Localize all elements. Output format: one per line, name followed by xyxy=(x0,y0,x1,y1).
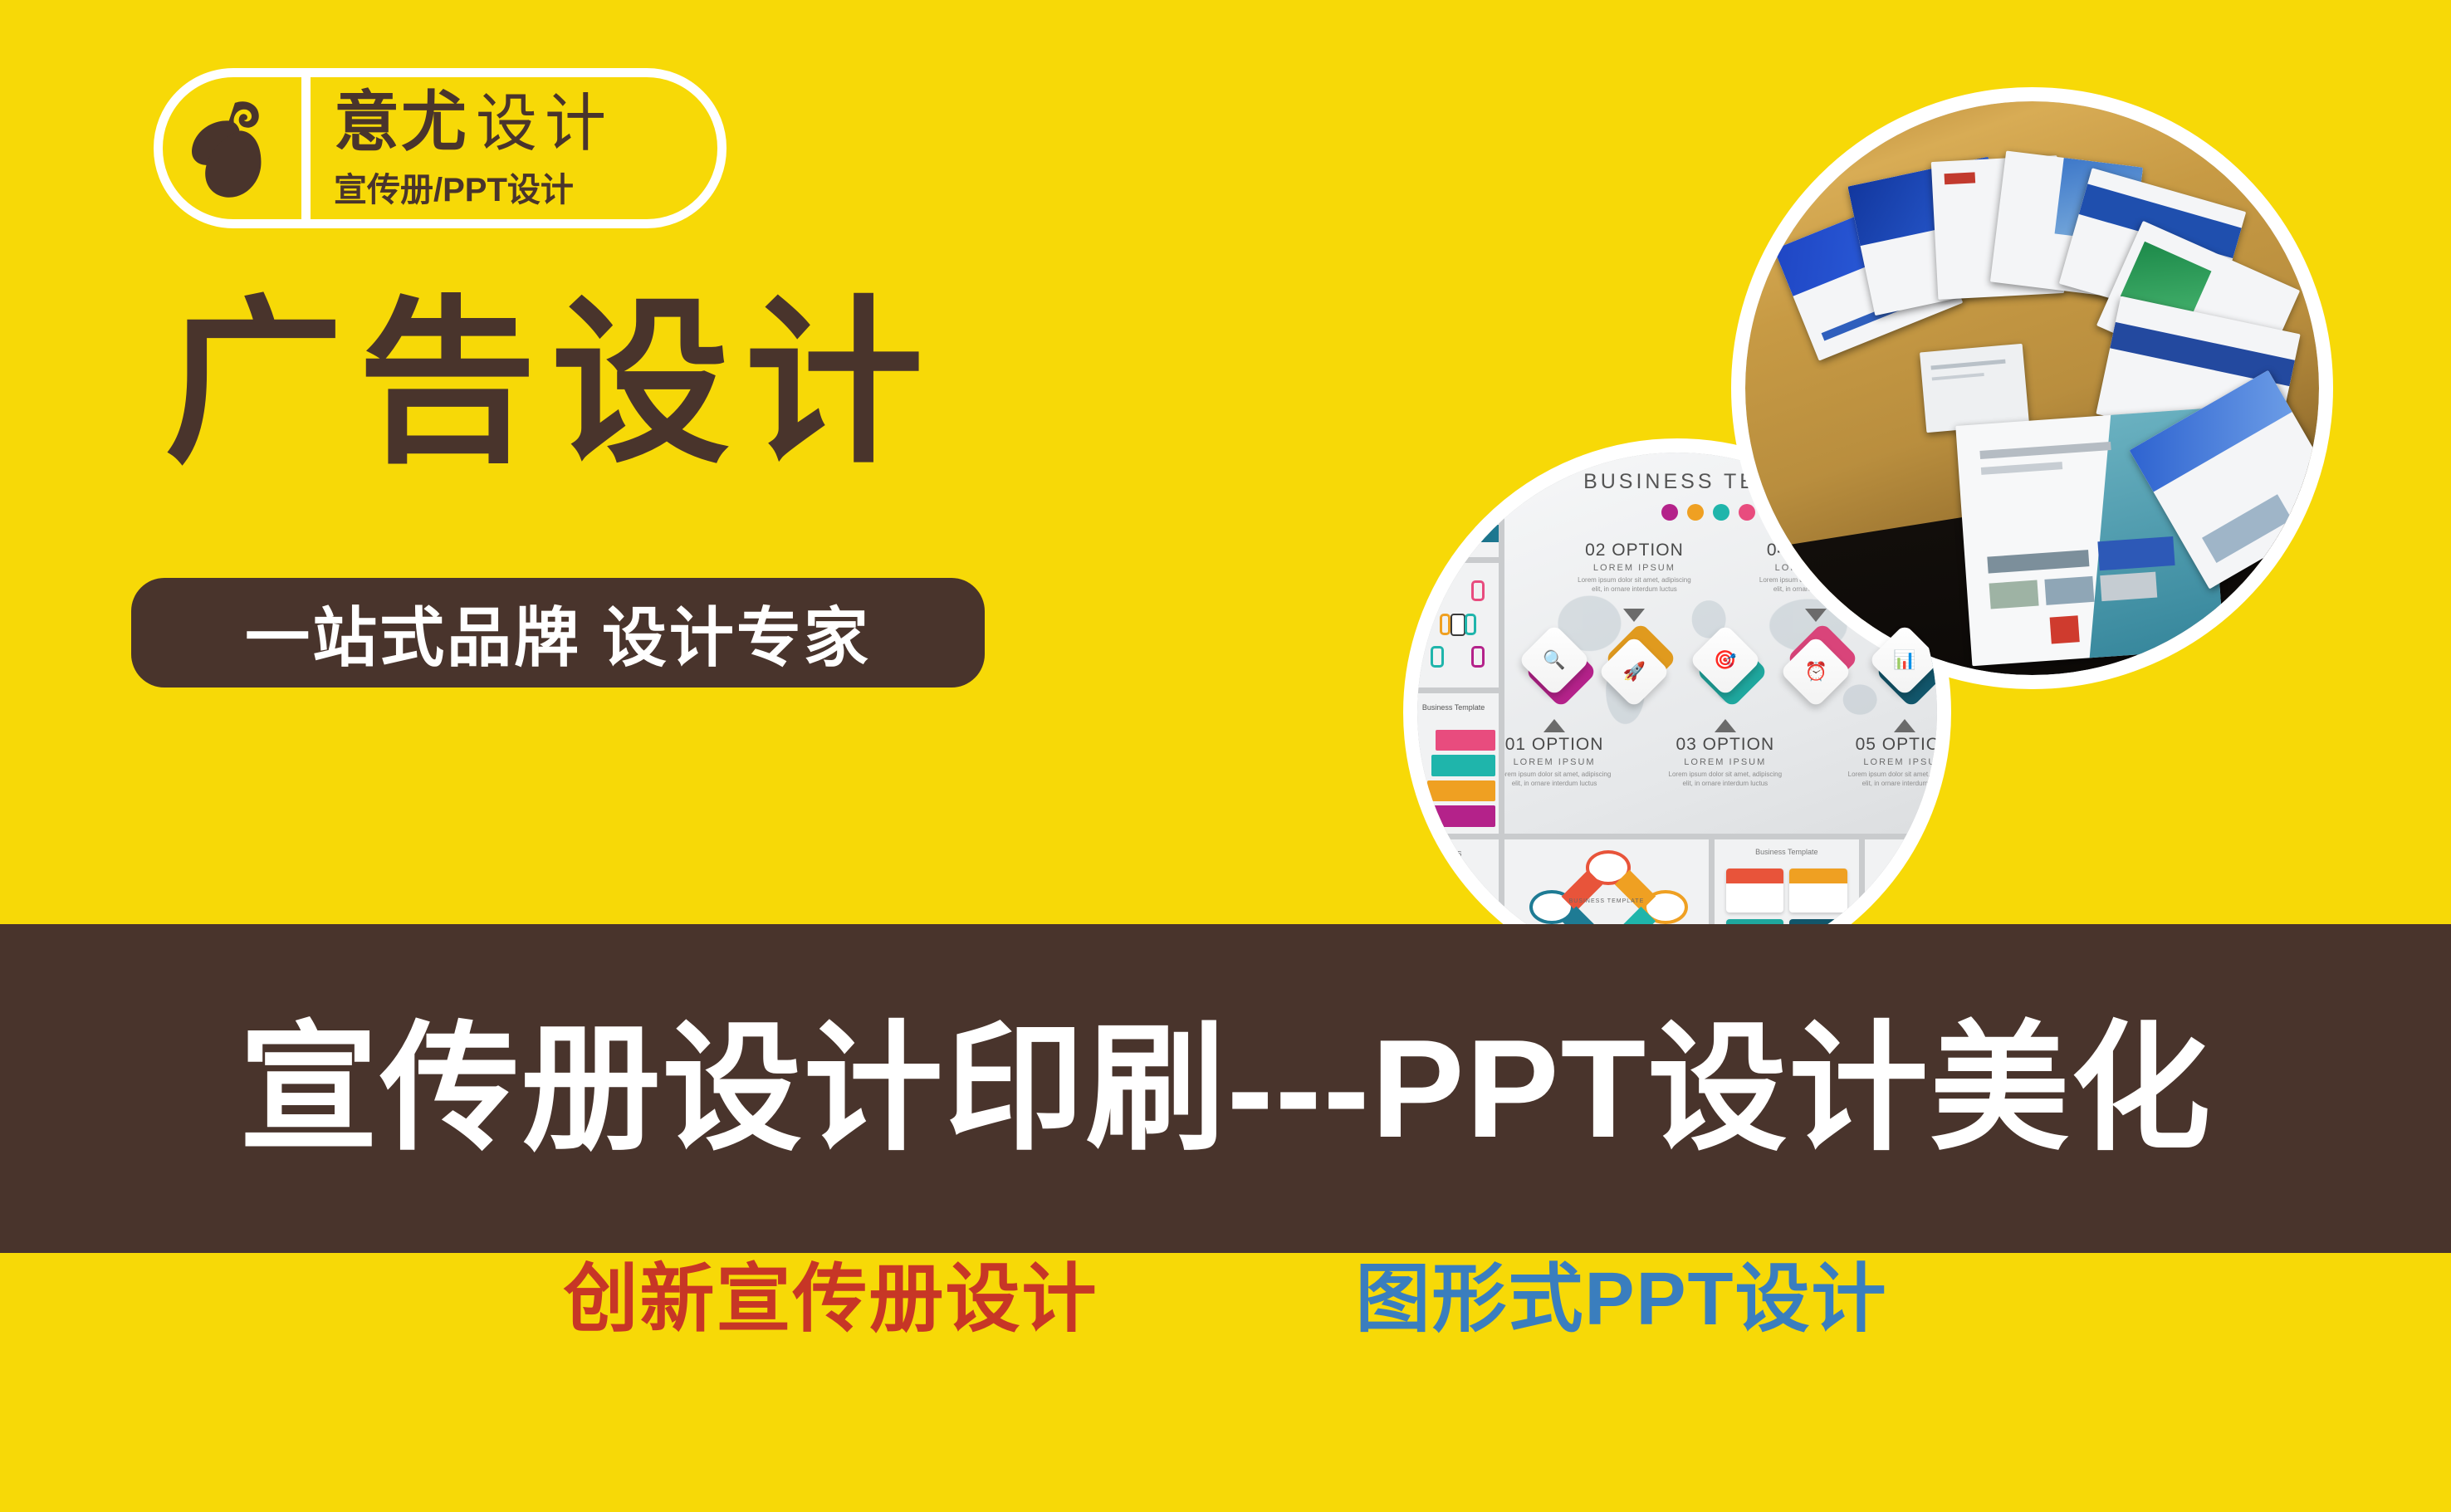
desk-background xyxy=(1745,101,2319,675)
ppt-thumb-cross-matrix xyxy=(1417,563,1499,687)
bottom-taglines: 创新宣传册设计 图形式PPT设计 xyxy=(0,1262,2451,1337)
business-card-holder xyxy=(1920,344,2029,433)
logo-name-thin: 设计 xyxy=(476,92,614,154)
logo-text-cell: 意尤 设计 宣传册/PPT设计 xyxy=(311,77,717,219)
rocket-icon: 🚀 xyxy=(1608,646,1660,697)
tagline-badge: 一站式品牌 设计专家 xyxy=(131,578,985,687)
ppt-thumb-funnel: Business Template xyxy=(1417,693,1499,834)
triangle-up-icon xyxy=(1715,719,1736,732)
brochures-photo-inner xyxy=(1745,101,2319,675)
ppt-option-label-01: 01 OPTION LOREM IPSUM Lorem ipsum dolor … xyxy=(1504,735,1617,789)
target-icon: 🎯 xyxy=(1700,634,1751,686)
chart-icon: 📊 xyxy=(1879,634,1930,686)
ppt-option-label-03: 03 OPTION LOREM IPSUM Lorem ipsum dolor … xyxy=(1663,735,1788,789)
logo-name: 意尤 设计 xyxy=(334,89,717,154)
brand-logo: 意尤 设计 宣传册/PPT设计 xyxy=(154,68,726,228)
main-banner-text: 宣传册设计印刷---PPT设计美化 xyxy=(239,1019,2213,1158)
tagline-badge-label: 一站式品牌 设计专家 xyxy=(245,586,871,679)
ppt-option-label-02: 02 OPTION LOREM IPSUM Lorem ipsum dolor … xyxy=(1572,541,1696,595)
clock-icon: ⏰ xyxy=(1790,646,1842,697)
logo-subtitle: 宣传册/PPT设计 xyxy=(334,163,717,211)
bird-seed-mark-icon xyxy=(183,98,281,199)
triangle-down-icon xyxy=(1623,609,1645,622)
main-banner: 宣传册设计印刷---PPT设计美化 xyxy=(0,924,2451,1253)
page-title: 广告设计 xyxy=(164,292,938,474)
logo-name-bold: 意尤 xyxy=(334,89,468,154)
ppt-option-label-05: 05 OPTION LOREM IPSUM Lorem ipsum dolor … xyxy=(1842,735,1937,789)
ppt-thumb-ribbon-list xyxy=(1417,453,1499,557)
tagline-brochure-design: 创新宣传册设计 xyxy=(563,1262,1098,1337)
magnifier-icon: 🔍 xyxy=(1529,634,1580,686)
brochures-photo xyxy=(1731,87,2333,689)
triangle-up-icon xyxy=(1894,719,1915,732)
tagline-ppt-design: 图形式PPT设计 xyxy=(1355,1262,1887,1337)
triangle-up-icon xyxy=(1543,719,1565,732)
logo-mark-cell xyxy=(163,77,311,219)
